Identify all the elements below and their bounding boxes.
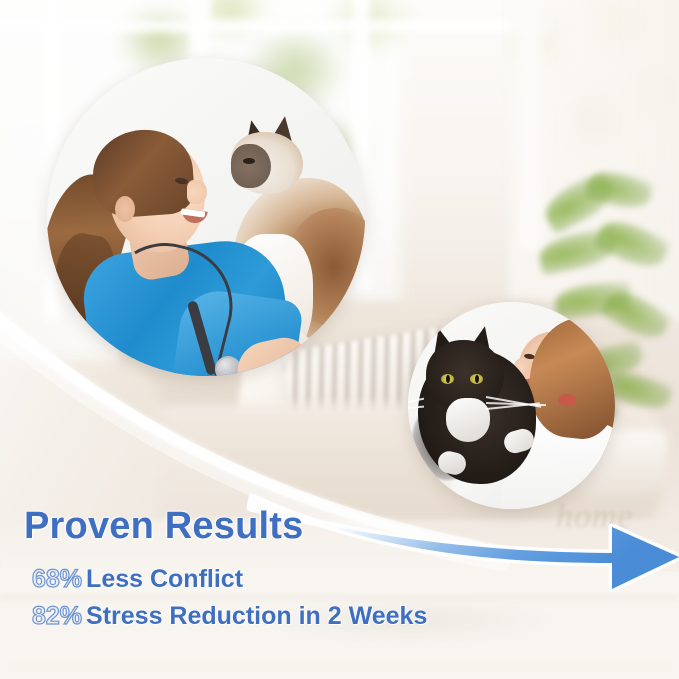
photo-circle-woman-and-black-cat bbox=[408, 302, 615, 509]
floor-baseboard-line bbox=[0, 596, 679, 599]
stat-2-percent: 82% bbox=[32, 602, 82, 630]
cat-eye bbox=[243, 158, 255, 164]
woman-ear bbox=[115, 196, 135, 222]
woman2-hair-tie bbox=[558, 394, 576, 406]
stat-line-2: 82%Stress Reduction in 2 Weeks bbox=[32, 602, 427, 631]
stat-line-1: 68%Less Conflict bbox=[32, 565, 243, 594]
black-cat-white-bib bbox=[446, 398, 490, 442]
window-mullion bbox=[0, 20, 550, 32]
cat-face-markings bbox=[231, 144, 271, 188]
black-cat-pupil-left bbox=[446, 375, 450, 383]
black-cat-pupil-right bbox=[475, 375, 479, 383]
stat-2-label: Stress Reduction in 2 Weeks bbox=[86, 602, 427, 630]
page-title: Proven Results bbox=[24, 505, 303, 548]
photo-circle-vet-and-cat bbox=[47, 58, 365, 376]
stat-1-percent: 68% bbox=[32, 565, 82, 593]
product-infographic: home bbox=[0, 0, 679, 679]
woman-nose bbox=[187, 180, 207, 204]
stat-1-label: Less Conflict bbox=[86, 565, 243, 593]
